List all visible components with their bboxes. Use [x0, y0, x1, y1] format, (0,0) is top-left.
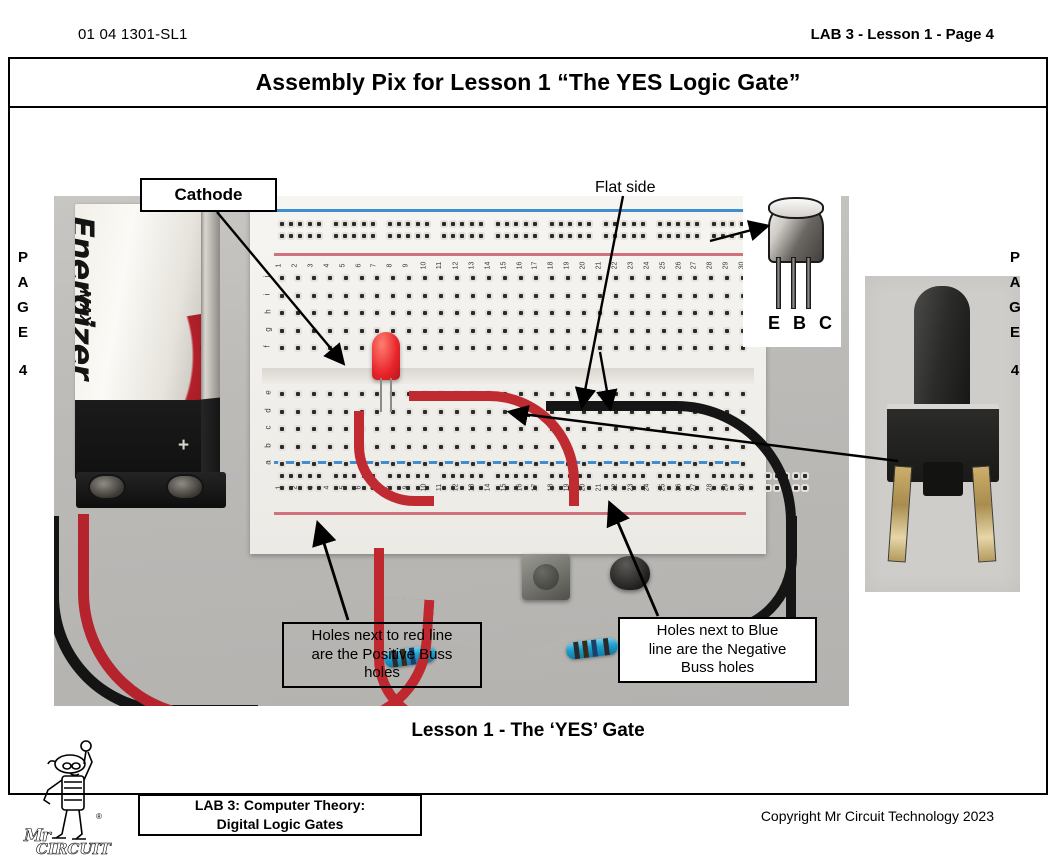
breadboard-hole [470, 234, 474, 238]
breadboard-hole [566, 276, 570, 280]
breadboard-column-number: 11 [436, 262, 443, 269]
breadboard-hole [407, 276, 411, 280]
breadboard-column-number: 2 [291, 486, 298, 490]
breadboard-hole [550, 346, 554, 350]
breadboard-hole [566, 346, 570, 350]
breadboard-hole [328, 410, 332, 414]
breadboard-hole [667, 222, 671, 226]
breadboard-hole [662, 346, 666, 350]
breadboard-hole [442, 234, 446, 238]
breadboard-row-letter: j [262, 276, 271, 278]
breadboard-hole [343, 474, 347, 478]
breadboard-column-number: 10 [420, 262, 427, 270]
breadboard-hole [622, 222, 626, 226]
breadboard-column-number: 1 [275, 486, 282, 490]
breadboard-hole [328, 276, 332, 280]
callout-cathode: Cathode [140, 178, 277, 212]
breadboard-hole [534, 346, 538, 350]
breadboard-hole [678, 392, 682, 396]
breadboard-hole [360, 311, 364, 315]
breadboard-hole [280, 222, 284, 226]
breadboard-hole [582, 311, 586, 315]
breadboard-hole [439, 346, 443, 350]
breadboard-hole [686, 234, 690, 238]
document-reference: LAB 3 - Lesson 1 - Page 4 [811, 26, 994, 43]
page-marker-right: P A G E 4 [1000, 245, 1030, 383]
breadboard-hole [317, 474, 321, 478]
breadboard-hole [614, 346, 618, 350]
breadboard-hole [534, 294, 538, 298]
led-red [372, 332, 400, 380]
breadboard-column-number: 17 [532, 262, 539, 270]
breadboard-hole [614, 294, 618, 298]
breadboard-hole [328, 329, 332, 333]
breadboard-hole [280, 234, 284, 238]
breadboard-hole [298, 474, 302, 478]
breadboard-hole [352, 234, 356, 238]
breadboard-hole [439, 276, 443, 280]
breadboard-hole [416, 222, 420, 226]
registered-trademark-symbol: ® [96, 812, 102, 821]
breadboard-column-number: 4 [323, 264, 330, 268]
breadboard-column-number: 16 [516, 262, 523, 270]
breadboard-column-number: 20 [579, 262, 586, 270]
breadboard-hole [312, 427, 316, 431]
breadboard-hole [712, 234, 716, 238]
breadboard-hole [371, 222, 375, 226]
breadboard-hole [455, 276, 459, 280]
breadboard-row-letter: b [264, 443, 273, 447]
breadboard-hole [296, 294, 300, 298]
callout-positive-buss: Holes next to red line are the Positive … [282, 622, 482, 688]
breadboard-hole [375, 276, 379, 280]
breadboard-hole [503, 311, 507, 315]
breadboard-column-number: 5 [339, 264, 346, 268]
breadboard-hole [725, 329, 729, 333]
breadboard-column-number: 27 [691, 262, 698, 270]
breadboard-hole [328, 311, 332, 315]
breadboard-hole [519, 329, 523, 333]
breadboard-hole [280, 427, 284, 431]
breadboard-hole [375, 294, 379, 298]
breadboard-hole [460, 222, 464, 226]
breadboard-hole [587, 234, 591, 238]
breadboard-hole [344, 276, 348, 280]
breadboard-column-number: 3 [307, 264, 314, 268]
breadboard-hole [667, 234, 671, 238]
breadboard-hole [794, 474, 798, 478]
breadboard-hole [582, 294, 586, 298]
breadboard-hole [598, 311, 602, 315]
breadboard-column-number: 29 [723, 262, 730, 270]
breadboard-hole [725, 392, 729, 396]
breadboard-hole [646, 346, 650, 350]
breadboard-hole [471, 346, 475, 350]
breadboard-hole [622, 234, 626, 238]
breadboard-hole [328, 427, 332, 431]
breadboard-row-letter: f [263, 345, 272, 347]
breadboard-hole [630, 276, 634, 280]
breadboard-hole [425, 222, 429, 226]
breadboard-hole [550, 311, 554, 315]
breadboard-hole [598, 329, 602, 333]
breadboard-hole [662, 294, 666, 298]
breadboard-hole [632, 222, 636, 226]
breadboard-column-number: 18 [548, 262, 555, 270]
breadboard-hole [451, 234, 455, 238]
breadboard-hole [407, 346, 411, 350]
page-marker-right-p: P [1010, 249, 1020, 266]
battery-snap-positive [166, 474, 204, 500]
breadboard-hole [693, 311, 697, 315]
breadboard-hole [550, 222, 554, 226]
breadboard-hole [312, 392, 316, 396]
breadboard-hole [439, 329, 443, 333]
transistor-pin-emitter [776, 257, 781, 309]
page-marker-left-number: 4 [8, 358, 38, 383]
breadboard-hole [391, 294, 395, 298]
breadboard-hole [693, 392, 697, 396]
breadboard-hole [598, 392, 602, 396]
breadboard-hole [460, 234, 464, 238]
breadboard-hole [568, 234, 572, 238]
breadboard-hole [470, 222, 474, 226]
breadboard-hole [280, 311, 284, 315]
breadboard-hole [662, 276, 666, 280]
breadboard-hole [439, 311, 443, 315]
breadboard-hole [641, 234, 645, 238]
breadboard-hole [496, 234, 500, 238]
breadboard-hole [658, 234, 662, 238]
page-marker-right-g: G [1009, 299, 1021, 316]
breadboard-hole [582, 392, 586, 396]
breadboard-hole [709, 276, 713, 280]
breadboard-hole [423, 346, 427, 350]
breadboard-column-number: 3 [307, 486, 314, 490]
breadboard-hole [587, 222, 591, 226]
breadboard-hole [352, 222, 356, 226]
breadboard-hole [280, 410, 284, 414]
breadboard-hole [534, 276, 538, 280]
breadboard-hole [503, 329, 507, 333]
breadboard-hole [550, 294, 554, 298]
lab-title-box: LAB 3: Computer Theory: Digital Logic Ga… [138, 794, 422, 836]
breadboard-hole [725, 311, 729, 315]
breadboard-hole [630, 329, 634, 333]
callout-cathode-text: Cathode [175, 185, 243, 205]
breadboard-column-number: 25 [659, 262, 666, 270]
breadboard-hole [730, 234, 734, 238]
breadboard-hole [296, 462, 300, 466]
breadboard-hole [678, 276, 682, 280]
breadboard-hole [514, 222, 518, 226]
breadboard-hole [533, 234, 537, 238]
breadboard-hole [308, 222, 312, 226]
breadboard-hole [344, 462, 348, 466]
breadboard-hole [371, 234, 375, 238]
breadboard-hole [578, 234, 582, 238]
breadboard-hole [280, 346, 284, 350]
breadboard-column-number: 22 [611, 262, 618, 270]
breadboard-column-number: 14 [484, 262, 491, 270]
page-marker-left-e: E [18, 324, 28, 341]
rail-line-negative-top [274, 209, 746, 212]
page-marker-right-number: 4 [1000, 358, 1030, 383]
breadboard-column-number: 7 [371, 264, 378, 268]
breadboard-hole [416, 234, 420, 238]
breadboard-hole [375, 329, 379, 333]
breadboard-hole [678, 346, 682, 350]
callout-negative-line3: Buss holes [649, 659, 787, 678]
breadboard-hole [559, 234, 563, 238]
breadboard-hole [709, 346, 713, 350]
page-marker-left-p: P [18, 249, 28, 266]
breadboard-hole [360, 294, 364, 298]
breadboard-hole [334, 474, 338, 478]
breadboard-hole [598, 294, 602, 298]
breadboard-column-number: 26 [675, 262, 682, 270]
callout-positive-line1: Holes next to red line [312, 627, 453, 646]
breadboard-hole [582, 276, 586, 280]
breadboard-hole [598, 276, 602, 280]
breadboard-hole [503, 294, 507, 298]
breadboard-hole [721, 234, 725, 238]
breadboard-hole [646, 392, 650, 396]
led-anode-leg [380, 378, 382, 412]
breadboard-hole [296, 445, 300, 449]
breadboard-hole [519, 276, 523, 280]
breadboard-hole [397, 222, 401, 226]
breadboard-hole [344, 294, 348, 298]
breadboard-hole [343, 222, 347, 226]
breadboard-hole [568, 222, 572, 226]
breadboard-hole [709, 294, 713, 298]
breadboard-hole [632, 234, 636, 238]
breadboard-hole [296, 329, 300, 333]
pushbutton-underside-photo [865, 276, 1020, 592]
breadboard-hole [280, 474, 284, 478]
breadboard-hole [362, 234, 366, 238]
transistor-pin-collector [806, 257, 811, 309]
breadboard-hole [391, 311, 395, 315]
breadboard-column-number: 2 [291, 264, 298, 268]
breadboard-hole [803, 486, 807, 490]
breadboard-hole [328, 462, 332, 466]
breadboard-column-number: 6 [355, 264, 362, 268]
breadboard-row-letter: a [264, 460, 273, 464]
breadboard-column-number: 1 [275, 264, 282, 268]
breadboard-row-letter: i [262, 293, 271, 295]
breadboard-hole [566, 311, 570, 315]
breadboard-hole [407, 329, 411, 333]
transistor-top-icon [768, 197, 824, 219]
breadboard-hole [298, 486, 302, 490]
breadboard-hole [439, 294, 443, 298]
document-code: 01 04 1301-SL1 [78, 26, 188, 43]
breadboard-hole [725, 294, 729, 298]
breadboard-hole [641, 222, 645, 226]
breadboard-hole [344, 346, 348, 350]
breadboard-hole [360, 392, 364, 396]
lab-title-line2: Digital Logic Gates [217, 815, 344, 834]
transistor-pin-base [791, 257, 796, 309]
breadboard-hole [317, 234, 321, 238]
breadboard-hole [407, 294, 411, 298]
breadboard-hole [298, 234, 302, 238]
breadboard-hole [613, 234, 617, 238]
breadboard-hole [693, 276, 697, 280]
breadboard-hole [604, 234, 608, 238]
breadboard-row-letter: e [264, 390, 273, 394]
breadboard-hole [352, 474, 356, 478]
breadboard-hole [471, 294, 475, 298]
breadboard-hole [566, 392, 570, 396]
breadboard-hole [375, 311, 379, 315]
breadboard-hole [280, 276, 284, 280]
breadboard-hole [559, 222, 563, 226]
breadboard-hole [455, 311, 459, 315]
breadboard-hole [496, 222, 500, 226]
breadboard-hole [407, 311, 411, 315]
callout-positive-line2: are the Positive Buss [312, 646, 453, 665]
breadboard-hole [360, 346, 364, 350]
breadboard-hole [519, 294, 523, 298]
document-header: 01 04 1301-SL1 LAB 3 - Lesson 1 - Page 4 [0, 26, 1056, 50]
body-area: Energizer MAX + [10, 108, 1046, 794]
breadboard-column-number: 21 [595, 262, 602, 270]
breadboard-hole [328, 294, 332, 298]
breadboard-hole [296, 311, 300, 315]
breadboard-hole [678, 329, 682, 333]
page-title: Assembly Pix for Lesson 1 “The YES Logic… [256, 69, 801, 96]
breadboard-hole [550, 276, 554, 280]
battery-sub-text: MAX [75, 290, 93, 326]
breadboard-hole [406, 222, 410, 226]
breadboard-hole [298, 222, 302, 226]
breadboard-hole [614, 329, 618, 333]
breadboard-hole [741, 392, 745, 396]
breadboard-hole [678, 311, 682, 315]
breadboard-hole [693, 329, 697, 333]
breadboard-hole [423, 329, 427, 333]
breadboard-hole [312, 462, 316, 466]
breadboard-hole [630, 346, 634, 350]
breadboard-hole [455, 329, 459, 333]
breadboard-hole [662, 392, 666, 396]
breadboard-hole [289, 222, 293, 226]
breadboard-hole [391, 329, 395, 333]
breadboard-hole [328, 346, 332, 350]
breadboard-hole [360, 276, 364, 280]
breadboard-hole [296, 346, 300, 350]
breadboard-hole [334, 234, 338, 238]
breadboard-hole [308, 474, 312, 478]
footer: ® Mr CIRCUIT LAB 3: Computer Theory: Dig… [10, 748, 1046, 794]
breadboard-hole [613, 222, 617, 226]
breadboard-hole [741, 410, 745, 414]
breadboard-hole [296, 410, 300, 414]
lesson-caption: Lesson 1 - The ‘YES’ Gate [10, 720, 1046, 742]
breadboard-hole [296, 276, 300, 280]
breadboard-hole [344, 329, 348, 333]
breadboard-hole [312, 276, 316, 280]
breadboard-hole [614, 392, 618, 396]
breadboard-hole [686, 222, 690, 226]
breadboard-hole [658, 222, 662, 226]
breadboard-hole [328, 392, 332, 396]
breadboard-hole [534, 329, 538, 333]
breadboard-hole [566, 329, 570, 333]
breadboard-hole [519, 346, 523, 350]
breadboard-hole [397, 234, 401, 238]
breadboard-hole [442, 222, 446, 226]
breadboard-hole [280, 294, 284, 298]
breadboard-hole [646, 329, 650, 333]
callout-negative-line2: line are the Negative [649, 641, 787, 660]
breadboard-hole [514, 234, 518, 238]
breadboard-hole [289, 234, 293, 238]
breadboard-hole [803, 474, 807, 478]
transistor-inset: E B C [743, 192, 841, 347]
battery-snap-negative [88, 474, 126, 500]
breadboard-hole [533, 222, 537, 226]
breadboard-hole [334, 486, 338, 490]
breadboard-column-number: 9 [403, 264, 410, 268]
breadboard-hole [334, 222, 338, 226]
breadboard-column-number: 8 [387, 264, 394, 268]
breadboard-hole [662, 329, 666, 333]
breadboard-hole [524, 222, 528, 226]
label-flat-side: Flat side [595, 179, 655, 197]
breadboard-hole [709, 392, 713, 396]
battery-polarity-label: + [178, 436, 189, 455]
breadboard-hole [709, 311, 713, 315]
page-marker-right-e: E [1010, 324, 1020, 341]
battery-9v: Energizer MAX + [70, 204, 225, 529]
copyright-notice: Copyright Mr Circuit Technology 2023 [761, 808, 994, 824]
breadboard-row-letter: g [264, 327, 273, 331]
breadboard-hole [308, 234, 312, 238]
breadboard-hole [455, 294, 459, 298]
breadboard-column-number: 13 [468, 262, 475, 270]
callout-positive-line3: holes [312, 664, 453, 683]
breadboard-column-number: 5 [339, 486, 346, 490]
breadboard-hole [646, 294, 650, 298]
breadboard-hole [344, 311, 348, 315]
breadboard-hole [550, 392, 554, 396]
lab-title-line1: LAB 3: Computer Theory: [195, 796, 365, 815]
breadboard-hole [503, 276, 507, 280]
breadboard-hole [678, 294, 682, 298]
pushbutton-center-notch [923, 462, 963, 496]
page-marker-right-a: A [1010, 274, 1021, 291]
breadboard-hole [471, 329, 475, 333]
breadboard-hole [582, 346, 586, 350]
breadboard-hole [280, 445, 284, 449]
breadboard-hole [519, 311, 523, 315]
breadboard-hole [614, 276, 618, 280]
breadboard-column-number: 19 [564, 262, 571, 270]
breadboard-hole [614, 311, 618, 315]
page-marker-left: P A G E 4 [8, 245, 38, 383]
breadboard-hole [479, 234, 483, 238]
breadboard-hole [312, 329, 316, 333]
breadboard-hole [471, 276, 475, 280]
breadboard-center-channel [262, 368, 754, 384]
breadboard-hole [630, 311, 634, 315]
breadboard-hole [604, 222, 608, 226]
breadboard-hole [425, 234, 429, 238]
